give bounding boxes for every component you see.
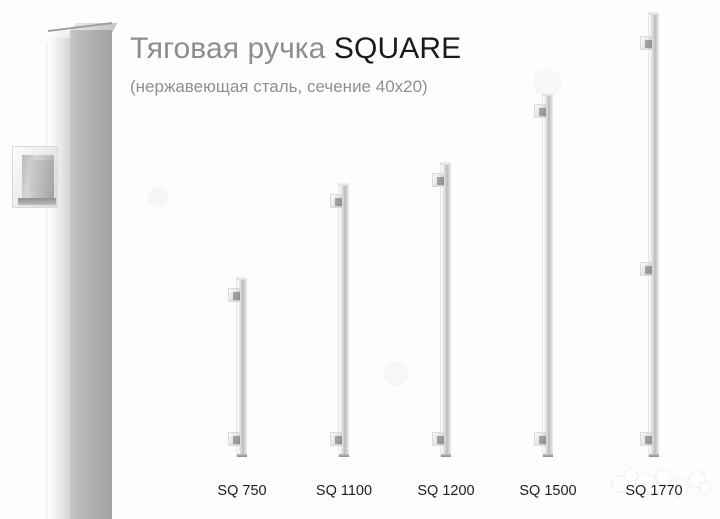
- handle-label: SQ 1770: [594, 483, 714, 499]
- page-title-prefix: Тяговая ручка: [130, 32, 334, 65]
- page-subtitle: (нержавеющая сталь, сечение 40х20): [130, 76, 560, 98]
- handle-mount-bracket: [640, 36, 653, 50]
- featured-handle: [42, 18, 112, 519]
- handle-mount-bracket: [432, 432, 445, 446]
- handle-mount-bracket: [228, 288, 241, 302]
- handle-mount-bracket: [330, 432, 343, 446]
- watermark-blob: [625, 469, 637, 481]
- page-title: Тяговая ручка SQUARE: [130, 30, 560, 68]
- page-title-model: SQUARE: [334, 32, 461, 65]
- handle-sq-1100: [330, 183, 358, 457]
- product-image-canvas: Тяговая ручка SQUARE (нержавеющая сталь,…: [0, 0, 720, 519]
- handle-mount-bracket: [432, 173, 445, 187]
- handle-sq-1770: [640, 12, 668, 457]
- handle-bar: [236, 277, 247, 457]
- handle-sq-750: [228, 277, 256, 457]
- bracket-core: [29, 160, 53, 192]
- handle-mount-bracket: [228, 432, 241, 446]
- handle-mount-bracket: [640, 262, 653, 276]
- handle-label: SQ 1500: [488, 483, 608, 499]
- bracket-shadow: [18, 198, 56, 205]
- featured-handle-mount-bracket: [12, 146, 58, 208]
- handle-bar: [542, 93, 553, 457]
- featured-handle-side-face: [48, 38, 71, 519]
- handle-sq-1200: [432, 162, 460, 457]
- handle-bar: [440, 162, 451, 457]
- handle-mount-bracket: [330, 194, 343, 208]
- handle-bar: [648, 12, 659, 457]
- handle-mount-bracket: [534, 432, 547, 446]
- handle-mount-bracket: [640, 432, 653, 446]
- watermark-blob: [656, 470, 670, 484]
- handle-bar: [338, 183, 349, 457]
- featured-handle-front-face: [70, 30, 112, 519]
- heading-block: Тяговая ручка SQUARE (нержавеющая сталь,…: [130, 30, 560, 98]
- handle-mount-bracket: [534, 104, 547, 118]
- handle-sq-1500: [534, 93, 562, 457]
